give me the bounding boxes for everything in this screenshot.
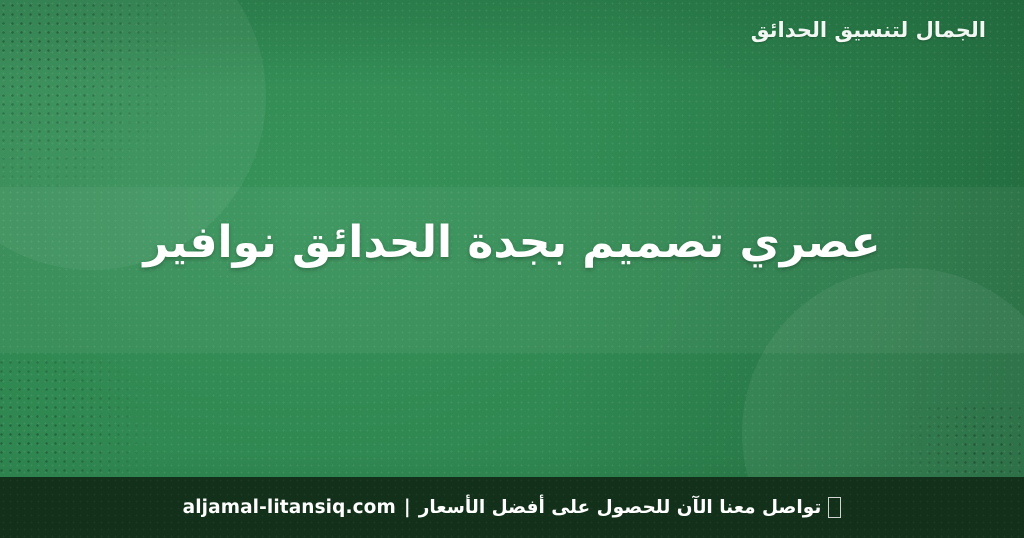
footer-website-url[interactable]: aljamal-litansiq.com	[183, 497, 396, 518]
promo-banner: الجمال لتنسيق الحدائق عصري تصميم بجدة ال…	[0, 0, 1024, 538]
headline-container: عصري تصميم بجدة الحدائق نوافير	[0, 216, 1024, 270]
page-title: عصري تصميم بجدة الحدائق نوافير	[60, 216, 964, 270]
missing-glyph-box-icon	[828, 497, 841, 518]
footer-call-to-action: تواصل معنا الآن للحصول على أفضل الأسعار	[419, 497, 822, 518]
brand-name: الجمال لتنسيق الحدائق	[38, 17, 986, 44]
footer-bar: تواصل معنا الآن للحصول على أفضل الأسعار …	[0, 477, 1024, 538]
footer-separator: |	[403, 497, 412, 518]
footer-content: تواصل معنا الآن للحصول على أفضل الأسعار …	[183, 497, 842, 518]
